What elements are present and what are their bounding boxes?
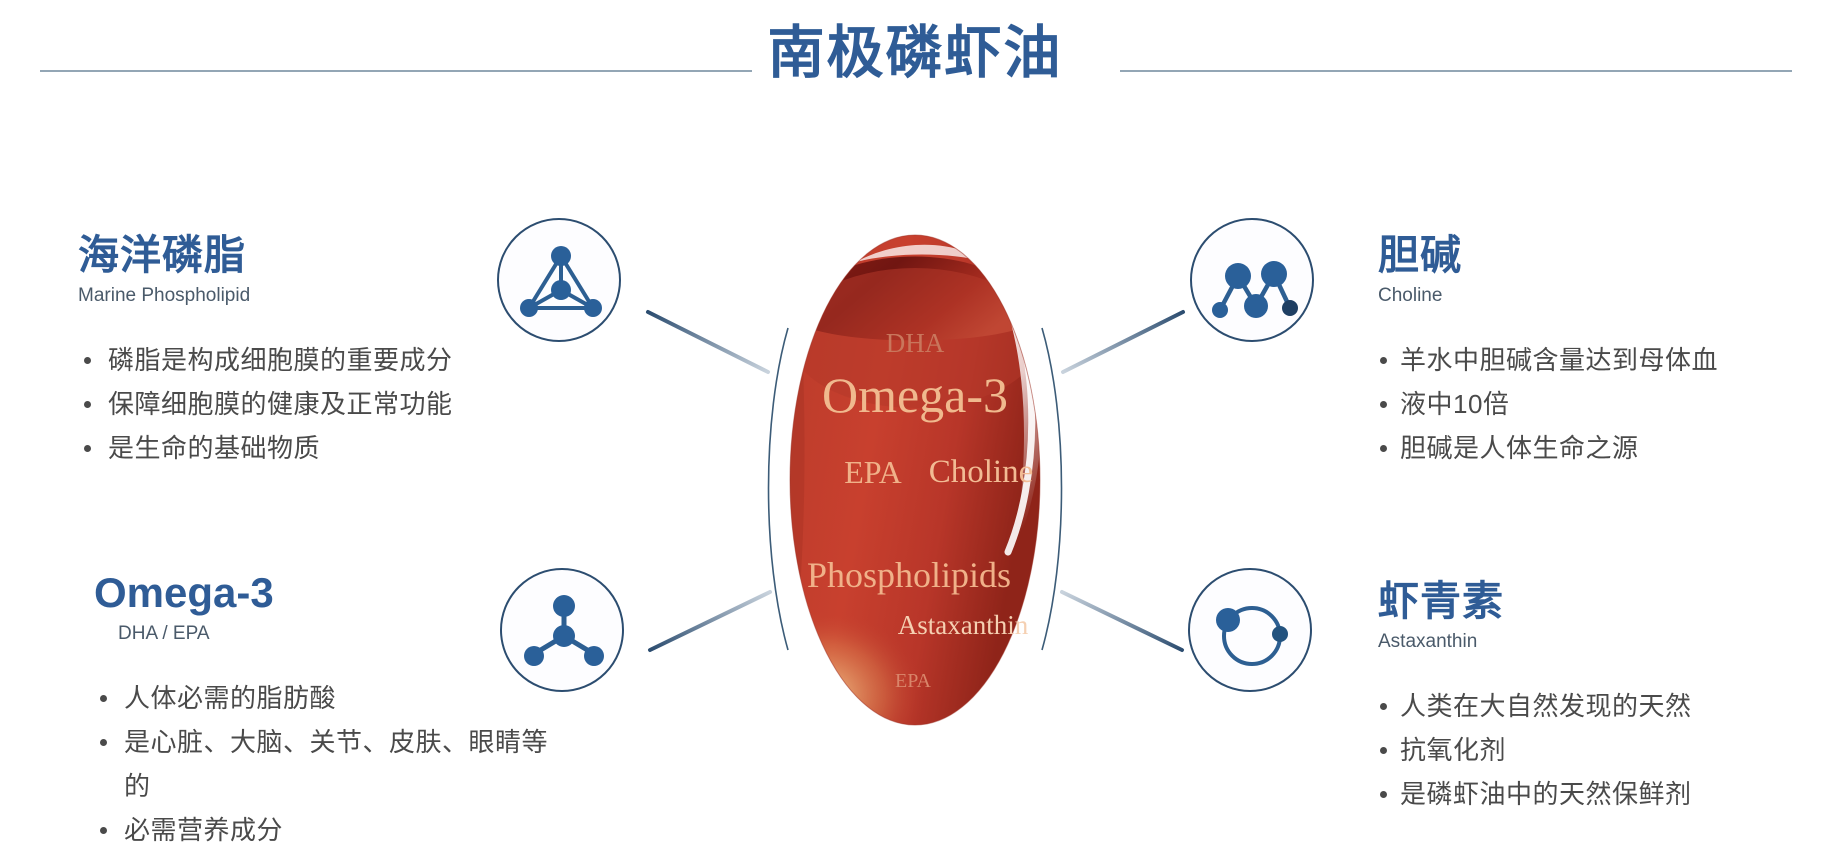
- panel-bullet-list: 人类在大自然发现的天然 抗氧化剂 是磷虾油中的天然保鲜剂: [1378, 684, 1778, 816]
- panel-astaxanthin: 虾青素 Astaxanthin 人类在大自然发现的天然 抗氧化剂 是磷虾油中的天…: [1378, 578, 1778, 816]
- list-item: 人类在大自然发现的天然: [1378, 684, 1778, 728]
- panel-bullet-list: 磷脂是构成细胞膜的重要成分 保障细胞膜的健康及正常功能 是生命的基础物质: [78, 338, 548, 470]
- list-item-continuation: 必需营养成分: [94, 808, 564, 852]
- infographic-canvas: 南极磷虾油: [0, 0, 1830, 866]
- panel-heading-en: Choline: [1378, 284, 1778, 308]
- list-item: 是磷虾油中的天然保鲜剂: [1378, 772, 1778, 816]
- panel-heading-en: DHA / EPA: [118, 622, 564, 646]
- list-item: 磷脂是构成细胞膜的重要成分: [78, 338, 548, 382]
- panel-marine-phospholipid: 海洋磷脂 Marine Phospholipid 磷脂是构成细胞膜的重要成分 保…: [78, 232, 548, 470]
- panel-heading-cn: Omega-3: [94, 570, 564, 616]
- list-item-continuation: 液中10倍: [1378, 382, 1778, 426]
- list-item: 胆碱是人体生命之源: [1378, 426, 1778, 470]
- list-item-continuation: 抗氧化剂: [1378, 728, 1778, 772]
- panel-bullet-list: 羊水中胆碱含量达到母体血 液中10倍 胆碱是人体生命之源: [1378, 338, 1778, 470]
- panel-heading-cn: 胆碱: [1378, 232, 1778, 278]
- zigzag-chain-molecule-icon: [1190, 218, 1314, 342]
- panel-heading-cn: 虾青素: [1378, 578, 1778, 624]
- orbital-ring-molecule-icon: [1188, 568, 1312, 692]
- list-item: 人体必需的脂肪酸: [94, 676, 564, 720]
- list-item: 羊水中胆碱含量达到母体血: [1378, 338, 1778, 382]
- list-item: 是生命的基础物质: [78, 426, 548, 470]
- page-title: 南极磷虾油: [0, 22, 1830, 84]
- panel-heading-en: Astaxanthin: [1378, 630, 1778, 654]
- panel-heading-cn: 海洋磷脂: [78, 232, 548, 278]
- panel-bullet-list: 人体必需的脂肪酸 是心脏、大脑、关节、皮肤、眼睛等的 必需营养成分: [94, 676, 564, 852]
- list-item: 保障细胞膜的健康及正常功能: [78, 382, 548, 426]
- panel-omega-3: Omega-3 DHA / EPA 人体必需的脂肪酸 是心脏、大脑、关节、皮肤、…: [94, 570, 564, 852]
- panel-heading-en: Marine Phospholipid: [78, 284, 548, 308]
- list-item: 是心脏、大脑、关节、皮肤、眼睛等的: [94, 720, 564, 808]
- krill-oil-capsule: DHA Omega-3 EPA Choline Phospholipids As…: [760, 218, 1070, 738]
- panel-choline: 胆碱 Choline 羊水中胆碱含量达到母体血 液中10倍 胆碱是人体生命之源: [1378, 232, 1778, 470]
